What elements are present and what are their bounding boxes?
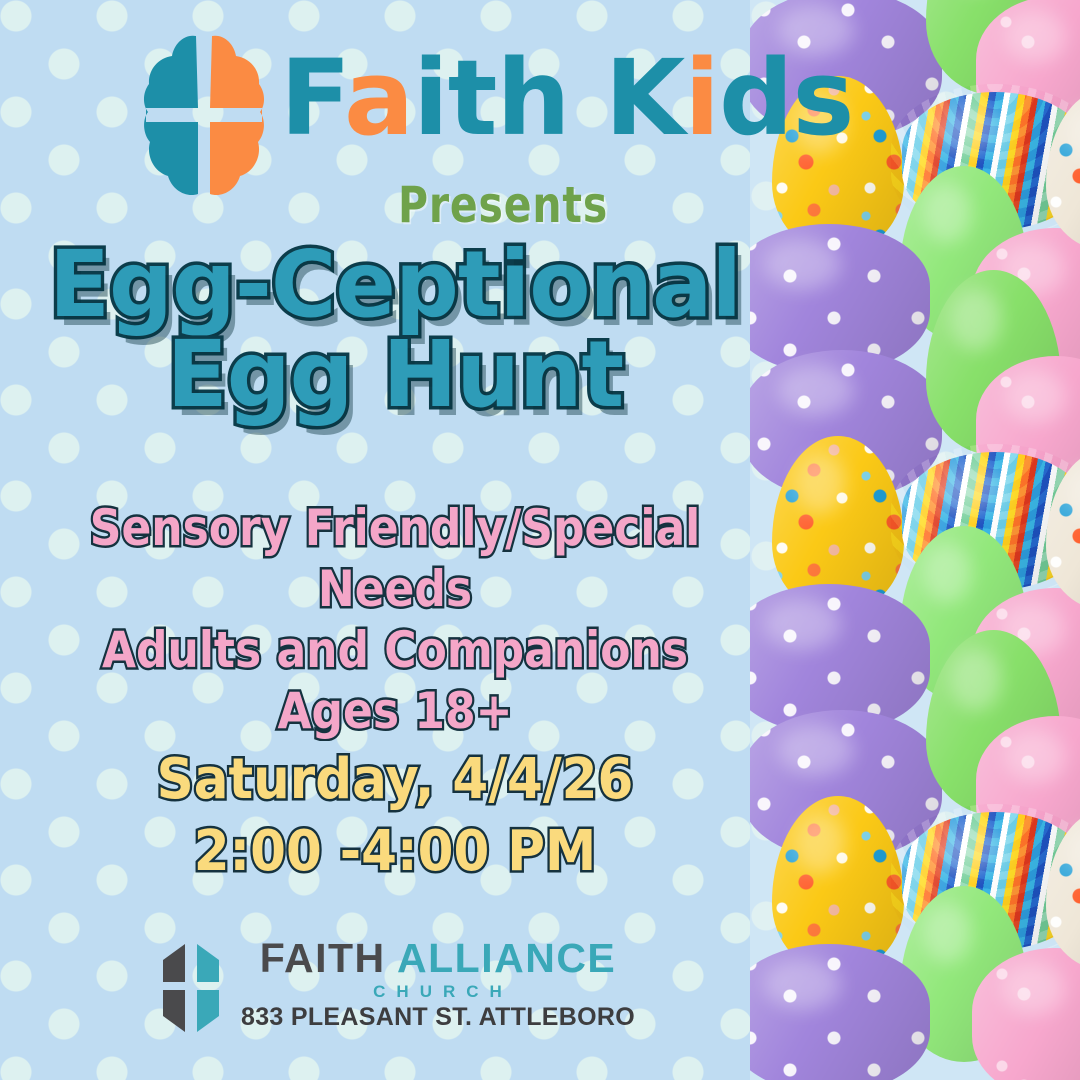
audience-line-1: Sensory Friendly/Special Needs (47, 498, 742, 620)
presents-label: Presents (398, 176, 608, 234)
church-name: FAITH ALLIANCE (260, 938, 617, 979)
church-text-block: FAITH ALLIANCE CHURCH 833 PLEASANT ST. A… (241, 938, 635, 1032)
church-address: 833 PLEASANT ST. ATTLEBORO (241, 1003, 635, 1032)
church-footer: FAITH ALLIANCE CHURCH 833 PLEASANT ST. A… (0, 938, 790, 1034)
church-subtitle: CHURCH (373, 983, 513, 1000)
faith-kids-wordmark: Faith Kids (280, 46, 853, 150)
event-title: Egg-Ceptional Egg Hunt (12, 240, 778, 420)
event-title-line2: Egg Hunt (12, 330, 778, 420)
egg-tile (750, 340, 1080, 700)
audience-line-2: Adults and Companions (47, 620, 742, 681)
church-name-part1: FAITH (260, 935, 397, 981)
flyer-canvas: Faith Kids Presents Egg-Ceptional Egg Hu… (0, 0, 1080, 1080)
faith-kids-header: Faith Kids Presents (140, 28, 740, 203)
faith-kids-cross-icon (140, 30, 268, 200)
egg-tile (750, 700, 1080, 1060)
audience-description: Sensory Friendly/Special Needs Adults an… (47, 498, 742, 742)
event-date: Saturday, 4/4/26 (32, 744, 759, 816)
church-name-part2: ALLIANCE (397, 935, 616, 981)
event-datetime: Saturday, 4/4/26 2:00 -4:00 PM (32, 744, 759, 887)
easter-egg-photo-column (750, 0, 1080, 1080)
event-time: 2:00 -4:00 PM (32, 816, 759, 888)
audience-line-3: Ages 18+ (47, 681, 742, 742)
faith-alliance-cross-icon (155, 942, 227, 1034)
